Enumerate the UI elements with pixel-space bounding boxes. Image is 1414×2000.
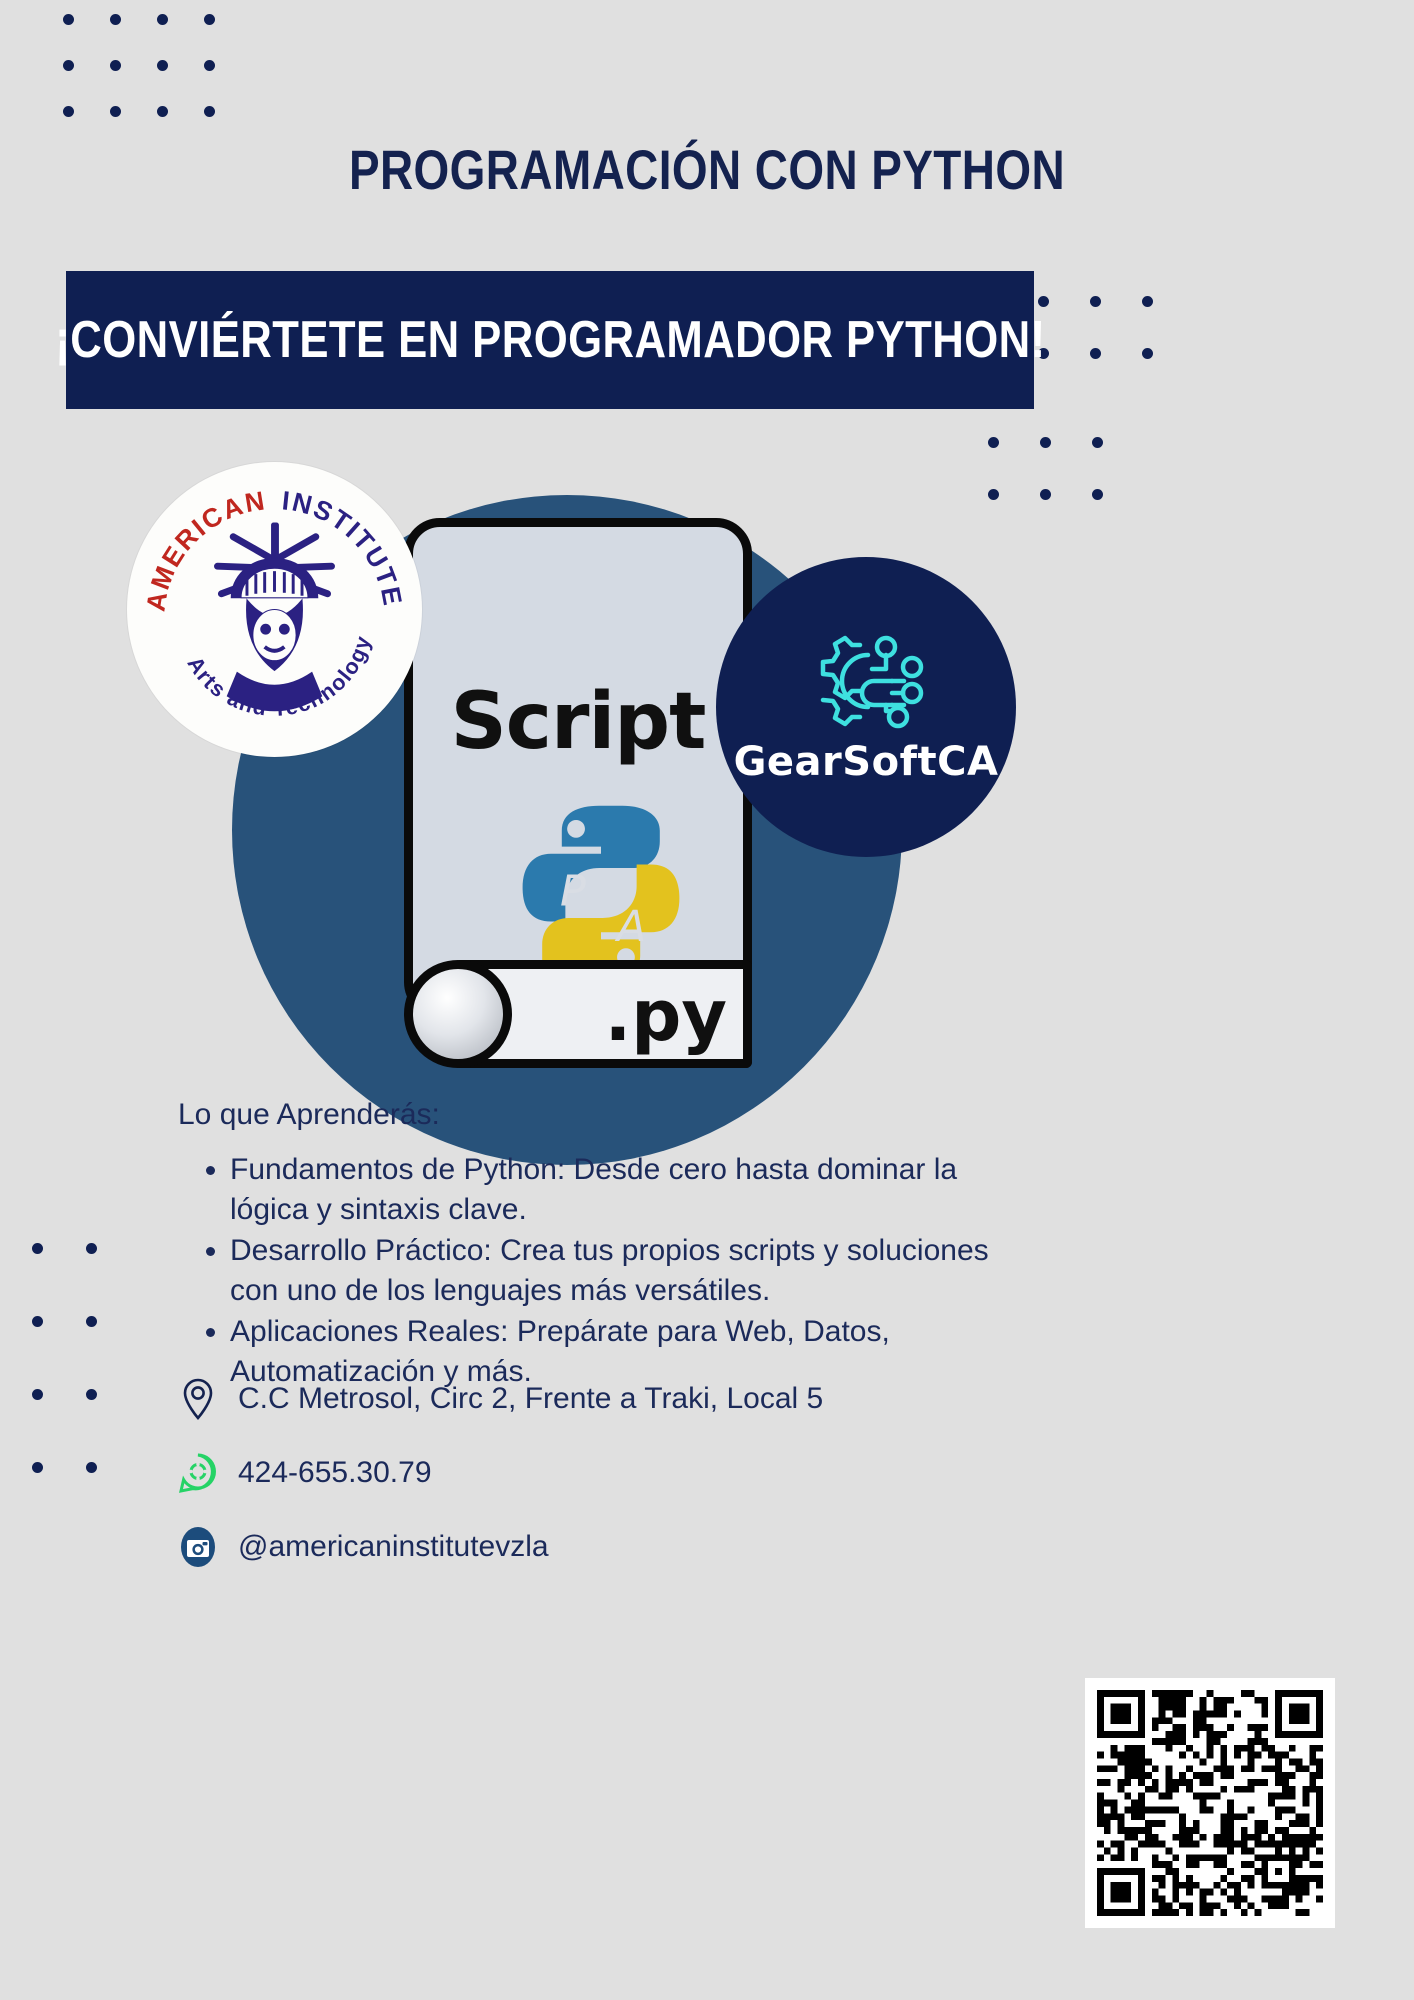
script-card: Script P A — [404, 518, 752, 1018]
american-institute-logo: AMERICAN INSTITUTE Arts and Technology — [127, 462, 422, 757]
decorative-dot — [1090, 348, 1101, 359]
address-text: C.C Metrosol, Circ 2, Frente a Traki, Lo… — [238, 1382, 823, 1416]
poster-canvas: PROGRAMACIÓN CON PYTHON ¡CONVIÉRTETE EN … — [0, 0, 1414, 2000]
decorative-dots-bottom-left — [32, 1243, 140, 1535]
list-item: Desarrollo Práctico: Crea tus propios sc… — [230, 1231, 1030, 1310]
decorative-dot — [86, 1462, 97, 1473]
decorative-dot — [32, 1316, 43, 1327]
qr-code[interactable] — [1085, 1678, 1335, 1928]
decorative-dot — [110, 14, 121, 25]
american-institute-seal-icon: AMERICAN INSTITUTE Arts and Technology — [127, 462, 422, 757]
headline-banner: ¡CONVIÉRTETE EN PROGRAMADOR PYTHON! — [66, 271, 1034, 409]
py-file-roll — [404, 960, 512, 1068]
whatsapp-icon[interactable] — [172, 1452, 224, 1494]
learning-bullets: Fundamentos de Python: Desde cero hasta … — [188, 1150, 1030, 1394]
decorative-dot — [63, 106, 74, 117]
instagram-icon[interactable] — [172, 1523, 224, 1571]
hero-graphic: Script P A .py A — [0, 440, 1414, 1140]
decorative-dot — [157, 60, 168, 71]
contact-row-address: C.C Metrosol, Circ 2, Frente a Traki, Lo… — [172, 1362, 823, 1436]
decorative-dot — [1038, 296, 1049, 307]
section-lead: Lo que Aprenderás: — [178, 1098, 440, 1132]
decorative-dot — [110, 60, 121, 71]
contact-row-instagram[interactable]: @americaninstitutevzla — [172, 1510, 823, 1584]
decorative-dot — [63, 14, 74, 25]
script-card-title: Script — [413, 677, 743, 767]
decorative-dot — [1142, 348, 1153, 359]
decorative-dots-right-upper — [1038, 296, 1194, 400]
decorative-dot — [63, 60, 74, 71]
contact-row-phone[interactable]: 424-655.30.79 — [172, 1436, 823, 1510]
banner-text: ¡CONVIÉRTETE EN PROGRAMADOR PYTHON! — [55, 310, 1045, 370]
decorative-dot — [204, 14, 215, 25]
gear-tech-icon — [806, 629, 926, 733]
decorative-dot — [110, 106, 121, 117]
decorative-dot — [1090, 296, 1101, 307]
page-title: PROGRAMACIÓN CON PYTHON — [127, 142, 1286, 198]
decorative-dot — [86, 1243, 97, 1254]
python-letter-right: A — [614, 902, 646, 952]
py-extension-label: .py — [605, 975, 727, 1057]
py-file-strip: .py — [404, 960, 752, 1068]
qr-code-image[interactable] — [1097, 1690, 1323, 1916]
decorative-dot — [86, 1389, 97, 1400]
contact-block: C.C Metrosol, Circ 2, Frente a Traki, Lo… — [172, 1362, 823, 1584]
decorative-dot — [1142, 296, 1153, 307]
decorative-dot — [204, 60, 215, 71]
decorative-dot — [157, 14, 168, 25]
decorative-dot — [32, 1389, 43, 1400]
gearsoft-wordmark: GearSoftCA — [734, 739, 999, 785]
decorative-dot — [204, 106, 215, 117]
decorative-dot — [32, 1462, 43, 1473]
location-pin-icon — [172, 1377, 224, 1421]
instagram-handle[interactable]: @americaninstitutevzla — [238, 1530, 549, 1564]
decorative-dots-top-left — [63, 14, 251, 152]
decorative-dot — [157, 106, 168, 117]
list-item: Fundamentos de Python: Desde cero hasta … — [230, 1150, 1030, 1229]
phone-text[interactable]: 424-655.30.79 — [238, 1456, 432, 1490]
python-letter-left: P — [560, 866, 586, 916]
decorative-dot — [86, 1316, 97, 1327]
decorative-dot — [32, 1243, 43, 1254]
gearsoft-logo: GearSoftCA — [716, 557, 1016, 857]
